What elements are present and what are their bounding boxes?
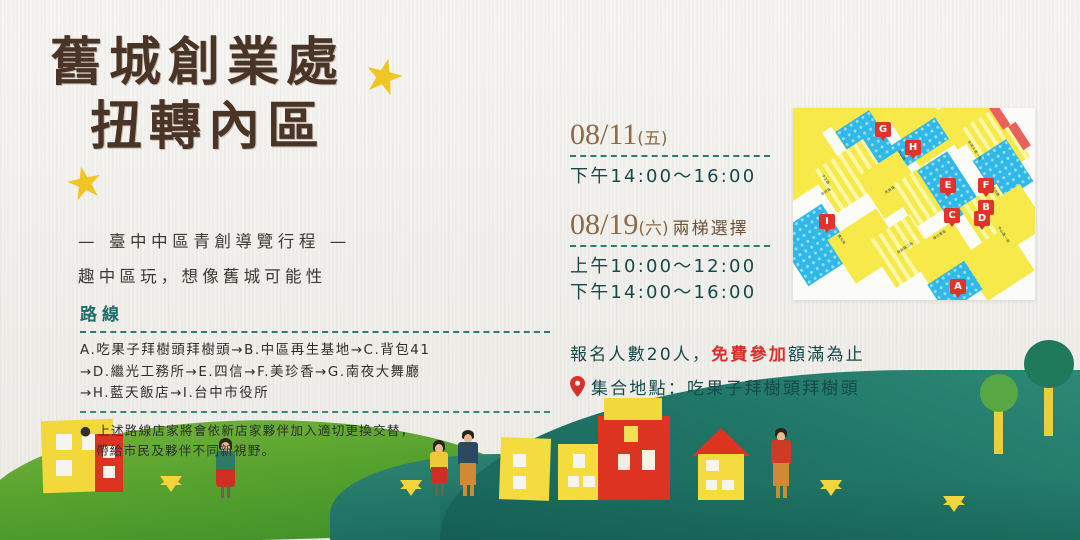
tree bbox=[1024, 340, 1074, 436]
route-section: 路線 A.吃果子拜樹頭拜樹頭→B.中區再生基地→C.背包41 →D.繼光工務所→… bbox=[80, 300, 550, 461]
date-value: 08/19 bbox=[570, 208, 638, 241]
person-figure bbox=[768, 428, 794, 498]
paper-boat bbox=[820, 480, 842, 496]
divider-dashed bbox=[80, 411, 550, 413]
divider-dashed bbox=[80, 331, 550, 333]
house-redroof bbox=[692, 428, 750, 500]
house-red-big bbox=[590, 398, 670, 500]
bullet-icon: ● bbox=[80, 423, 92, 438]
area-map[interactable]: 中正路 中山路 市府路 民族路 綠川東街 繼光街 自由路二段 台灣大道一段 成功… bbox=[793, 108, 1035, 300]
meeting-point: 集合地點：吃果子拜樹頭拜樹頭 bbox=[570, 374, 990, 399]
map-marker-f[interactable]: F bbox=[978, 178, 994, 193]
title-line-1: 舊城創業處 bbox=[50, 36, 504, 90]
title-line-2: 扭轉內區 bbox=[90, 100, 504, 154]
date-value: 08/11 bbox=[570, 118, 637, 151]
signup-info: 報名人數20人，免費參加額滿為止 bbox=[570, 340, 990, 365]
signup-section: 報名人數20人，免費參加額滿為止 集合地點：吃果子拜樹頭拜樹頭 bbox=[570, 340, 990, 399]
poster-canvas: 舊城創業處 扭轉內區 — 臺中中區青創導覽行程 — 趣中區玩，想像舊城可能性 路… bbox=[0, 0, 1080, 540]
paper-boat bbox=[160, 476, 182, 492]
subtitle-line-2: 趣中區玩，想像舊城可能性 bbox=[78, 263, 351, 287]
meeting-point-label: 集合地點：吃果子拜樹頭拜樹頭 bbox=[591, 374, 860, 399]
map-marker-d[interactable]: D bbox=[974, 211, 990, 226]
poster-title: 舊城創業處 扭轉內區 bbox=[44, 36, 504, 154]
map-marker-e[interactable]: E bbox=[940, 178, 956, 193]
signup-prefix: 報名人數20人， bbox=[570, 345, 711, 365]
route-note: ●上述路線店家將會依新店家夥伴加入適切更換交替， 帶給市民及夥伴不同新視野。 bbox=[80, 421, 550, 461]
signup-suffix: 額滿為止 bbox=[788, 345, 865, 365]
star-icon bbox=[65, 163, 104, 202]
date-dow: (五) bbox=[637, 129, 667, 149]
map-marker-g[interactable]: G bbox=[875, 122, 891, 137]
route-list: A.吃果子拜樹頭拜樹頭→B.中區再生基地→C.背包41 →D.繼光工務所→E.四… bbox=[80, 340, 550, 405]
route-heading: 路線 bbox=[80, 300, 550, 325]
date-extra: 兩梯選擇 bbox=[673, 219, 749, 239]
signup-free-badge: 免費參加 bbox=[711, 345, 788, 365]
map-marker-a[interactable]: A bbox=[950, 279, 966, 294]
route-line-2: →D.繼光工務所→E.四信→F.美珍香→G.南夜大舞廳 bbox=[80, 362, 550, 384]
date-dow: (六) bbox=[638, 219, 668, 239]
map-marker-i[interactable]: I bbox=[819, 214, 835, 229]
poster-subtitle: — 臺中中區青創導覽行程 — 趣中區玩，想像舊城可能性 bbox=[78, 228, 351, 287]
map-marker-h[interactable]: H bbox=[905, 140, 921, 155]
divider-dashed bbox=[570, 245, 770, 247]
divider-dashed bbox=[570, 155, 770, 157]
route-line-1: A.吃果子拜樹頭拜樹頭→B.中區再生基地→C.背包41 bbox=[80, 340, 550, 362]
route-line-3: →H.藍天飯店→I.台中市役所 bbox=[80, 383, 550, 405]
subtitle-line-1: — 臺中中區青創導覽行程 — bbox=[78, 232, 351, 251]
route-note-line-1: 上述路線店家將會依新店家夥伴加入適切更換交替， bbox=[97, 423, 414, 438]
location-pin-icon bbox=[570, 376, 585, 397]
route-note-line-2: 帶給市民及夥伴不同新視野。 bbox=[80, 441, 550, 461]
paper-boat bbox=[943, 496, 965, 512]
paper-boat bbox=[400, 480, 422, 496]
map-marker-c[interactable]: C bbox=[944, 208, 960, 223]
